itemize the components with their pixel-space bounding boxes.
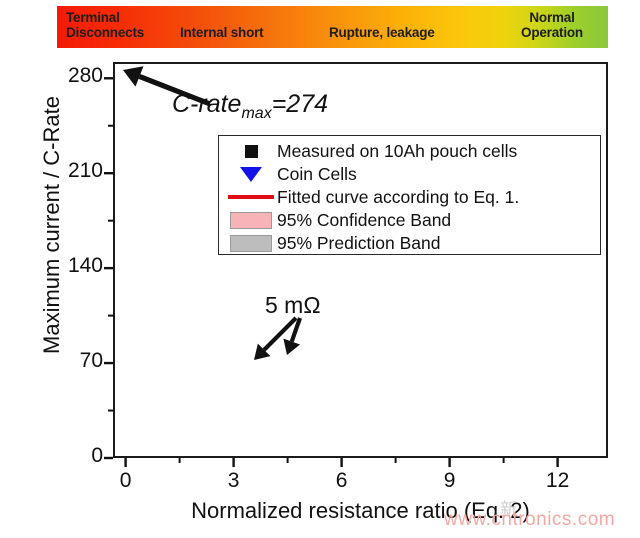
annotation-c-rate-subscript: max (241, 105, 271, 122)
legend-label-prediction-band: 95% Prediction Band (277, 233, 440, 254)
watermark: www.cntronics.com (444, 509, 615, 531)
line-marker-icon (225, 195, 277, 199)
prediction-swatch-icon (225, 235, 277, 252)
legend-label-coin-cells: Coin Cells (277, 164, 357, 185)
annotation-c-rate-value: =274 (272, 90, 328, 118)
x-tick-6: 6 (312, 469, 372, 493)
legend-label-measured: Measured on 10Ah pouch cells (277, 141, 517, 162)
annotation-c-rate-max: C-ratemax=274 (172, 90, 328, 123)
chart-root: Terminal Disconnects Internal short Rupt… (0, 0, 640, 538)
y-axis-title: Maximum current / C-Rate (39, 25, 65, 425)
legend-item-measured: Measured on 10Ah pouch cells (225, 140, 594, 162)
x-tick-12: 12 (528, 469, 588, 493)
legend-label-confidence-band: 95% Confidence Band (277, 210, 451, 231)
annotation-c-rate-prefix: C-rate (172, 90, 241, 118)
square-marker-icon (225, 145, 277, 158)
legend: Measured on 10Ah pouch cells Coin Cells … (218, 135, 601, 255)
legend-label-fitted-curve: Fitted curve according to Eq. 1. (277, 187, 519, 208)
x-tick-0: 0 (96, 469, 156, 493)
legend-item-prediction-band: 95% Prediction Band (225, 232, 594, 254)
x-tick-3: 3 (204, 469, 264, 493)
legend-item-fitted-curve: Fitted curve according to Eq. 1. (225, 186, 594, 208)
legend-item-coin-cells: Coin Cells (225, 163, 594, 185)
x-tick-9: 9 (420, 469, 480, 493)
triangle-marker-icon (225, 167, 277, 182)
legend-item-confidence-band: 95% Confidence Band (225, 209, 594, 231)
x-tick-labels: 036912 (0, 0, 640, 538)
confidence-swatch-icon (225, 212, 277, 229)
annotation-resistance: 5 mΩ (265, 292, 321, 319)
